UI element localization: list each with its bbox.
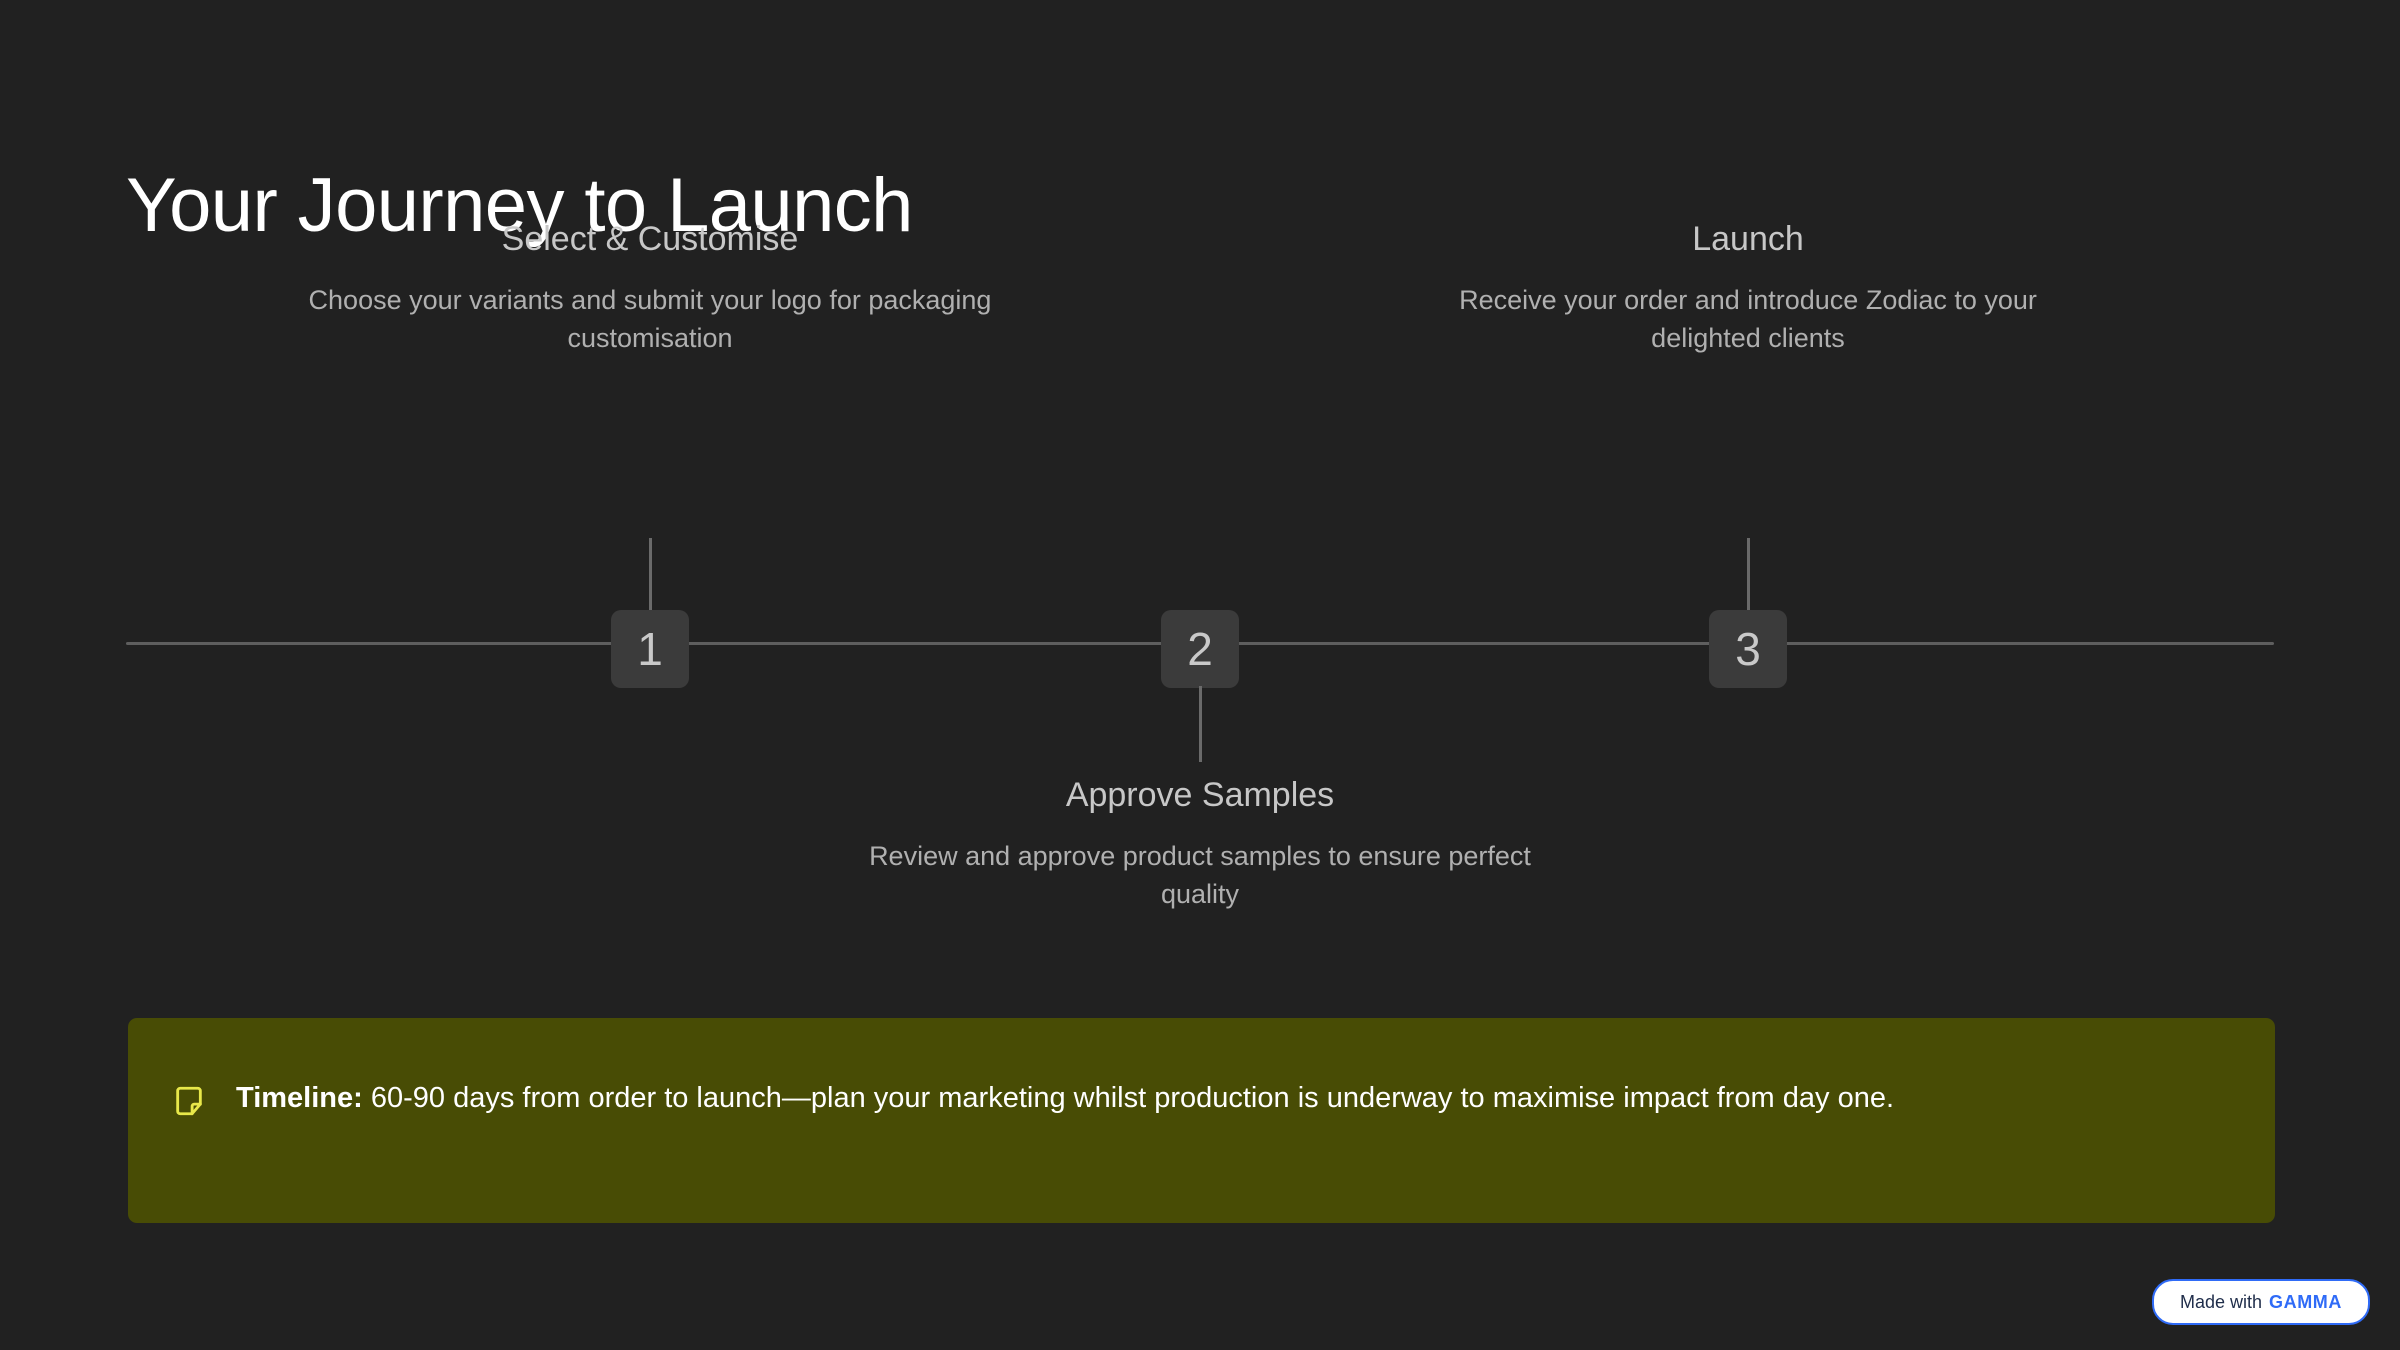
sticky-note-icon (172, 1084, 206, 1118)
timeline: Select & Customise Choose your variants … (0, 280, 2400, 980)
gamma-logo: GAMMA (2269, 1292, 2342, 1313)
step-label-3: Launch Receive your order and introduce … (1388, 218, 2108, 357)
badge-prefix: Made with (2180, 1292, 2262, 1313)
callout-body: 60-90 days from order to launch—plan you… (363, 1082, 1894, 1114)
step-description-3: Receive your order and introduce Zodiac … (1388, 281, 2108, 358)
step-marker-3[interactable]: 3 (1709, 610, 1787, 688)
step-marker-1[interactable]: 1 (611, 610, 689, 688)
step-label-2: Approve Samples Review and approve produ… (840, 774, 1560, 913)
step-title-1: Select & Customise (290, 218, 1010, 261)
slide-canvas: Your Journey to Launch Select & Customis… (0, 0, 2400, 1350)
timeline-callout: Timeline: 60-90 days from order to launc… (128, 1018, 2275, 1223)
step-description-1: Choose your variants and submit your log… (290, 281, 1010, 358)
made-with-gamma-badge[interactable]: Made with GAMMA (2152, 1279, 2370, 1325)
callout-label: Timeline: (236, 1082, 363, 1114)
step-description-2: Review and approve product samples to en… (840, 837, 1560, 914)
step-label-1: Select & Customise Choose your variants … (290, 218, 1010, 357)
step-marker-2[interactable]: 2 (1161, 610, 1239, 688)
step-title-3: Launch (1388, 218, 2108, 261)
connector-line-1 (649, 538, 652, 614)
connector-line-3 (1747, 538, 1750, 614)
step-title-2: Approve Samples (840, 774, 1560, 817)
callout-text: Timeline: 60-90 days from order to launc… (236, 1078, 1894, 1119)
connector-line-2 (1199, 686, 1202, 762)
